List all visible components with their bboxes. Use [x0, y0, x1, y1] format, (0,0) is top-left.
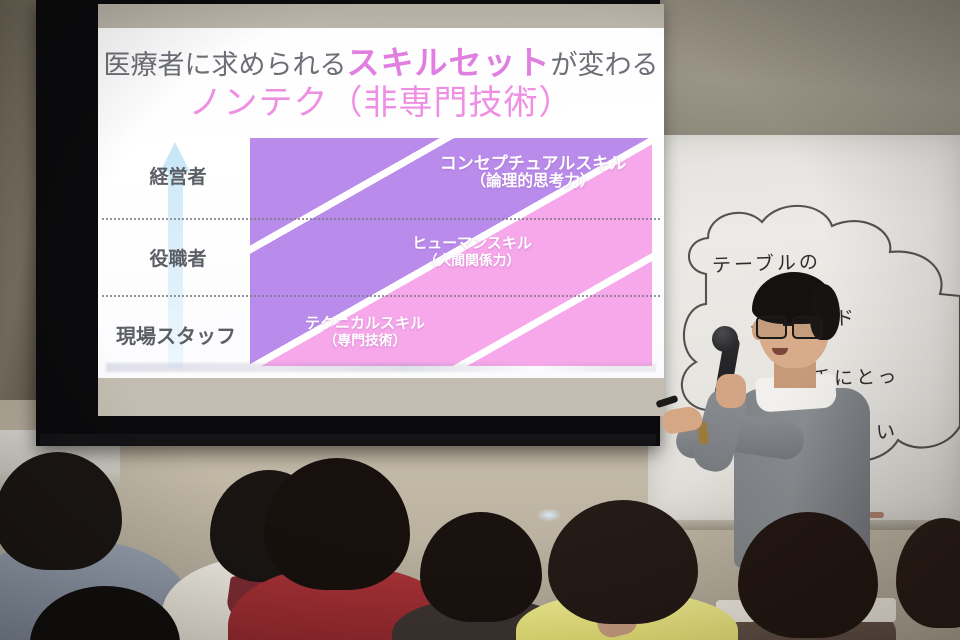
skill-sub-technical: （専門技術） — [260, 333, 470, 348]
slide-title-line-2: ノンテク（非専門技術） — [98, 86, 664, 120]
role-axis: 経営者 役職者 現場スタッフ — [104, 140, 252, 368]
skill-label-human: ヒューマンスキル （人間関係力） — [362, 236, 582, 268]
title-prefix: 医療者に求められる — [104, 50, 347, 80]
skill-matrix: コンセプチュアルスキル （論理的思考力） ヒューマンスキル （人間関係力） テク… — [250, 138, 652, 366]
title-suffix: が変わる — [551, 50, 659, 80]
skill-name-technical: テクニカルスキル — [260, 316, 470, 333]
slide-footer-text — [106, 363, 656, 372]
skill-sub-conceptual: （論理的思考力） — [418, 173, 648, 191]
presenter-hand-holding-mic — [716, 374, 746, 408]
skill-sub-human: （人間関係力） — [362, 253, 582, 268]
skill-name-conceptual: コンセプチュアルスキル — [418, 154, 648, 173]
skill-name-human: ヒューマンスキル — [362, 236, 582, 253]
slide-title-line-1: 医療者に求められるスキルセットが変わる — [98, 46, 664, 79]
skill-label-conceptual: コンセプチュアルスキル （論理的思考力） — [418, 154, 648, 191]
title-accent: スキルセット — [347, 44, 551, 81]
axis-label-executive: 経営者 — [104, 162, 252, 189]
projection-screen-frame: 医療者に求められるスキルセットが変わる ノンテク（非専門技術） 経営者 役職者 … — [36, 0, 660, 446]
projector-light-flare — [536, 508, 562, 522]
presentation-slide: 医療者に求められるスキルセットが変わる ノンテク（非専門技術） 経営者 役職者 … — [98, 28, 664, 378]
axis-label-manager: 役職者 — [104, 244, 252, 271]
tier-divider-upper — [102, 218, 660, 220]
lecture-room-photo: テーブルの ノ□カード 手にとっ 下さい 医療者に求められるスキルセットが変わる… — [0, 0, 960, 640]
axis-label-staff: 現場スタッフ — [102, 320, 250, 349]
tier-divider-lower — [102, 295, 660, 297]
upper-right-wall — [640, 0, 960, 140]
skill-label-technical: テクニカルスキル （専門技術） — [260, 316, 470, 348]
presenter-glasses-icon — [756, 316, 822, 336]
projection-screen-surface: 医療者に求められるスキルセットが変わる ノンテク（非専門技術） 経営者 役職者 … — [98, 4, 664, 416]
